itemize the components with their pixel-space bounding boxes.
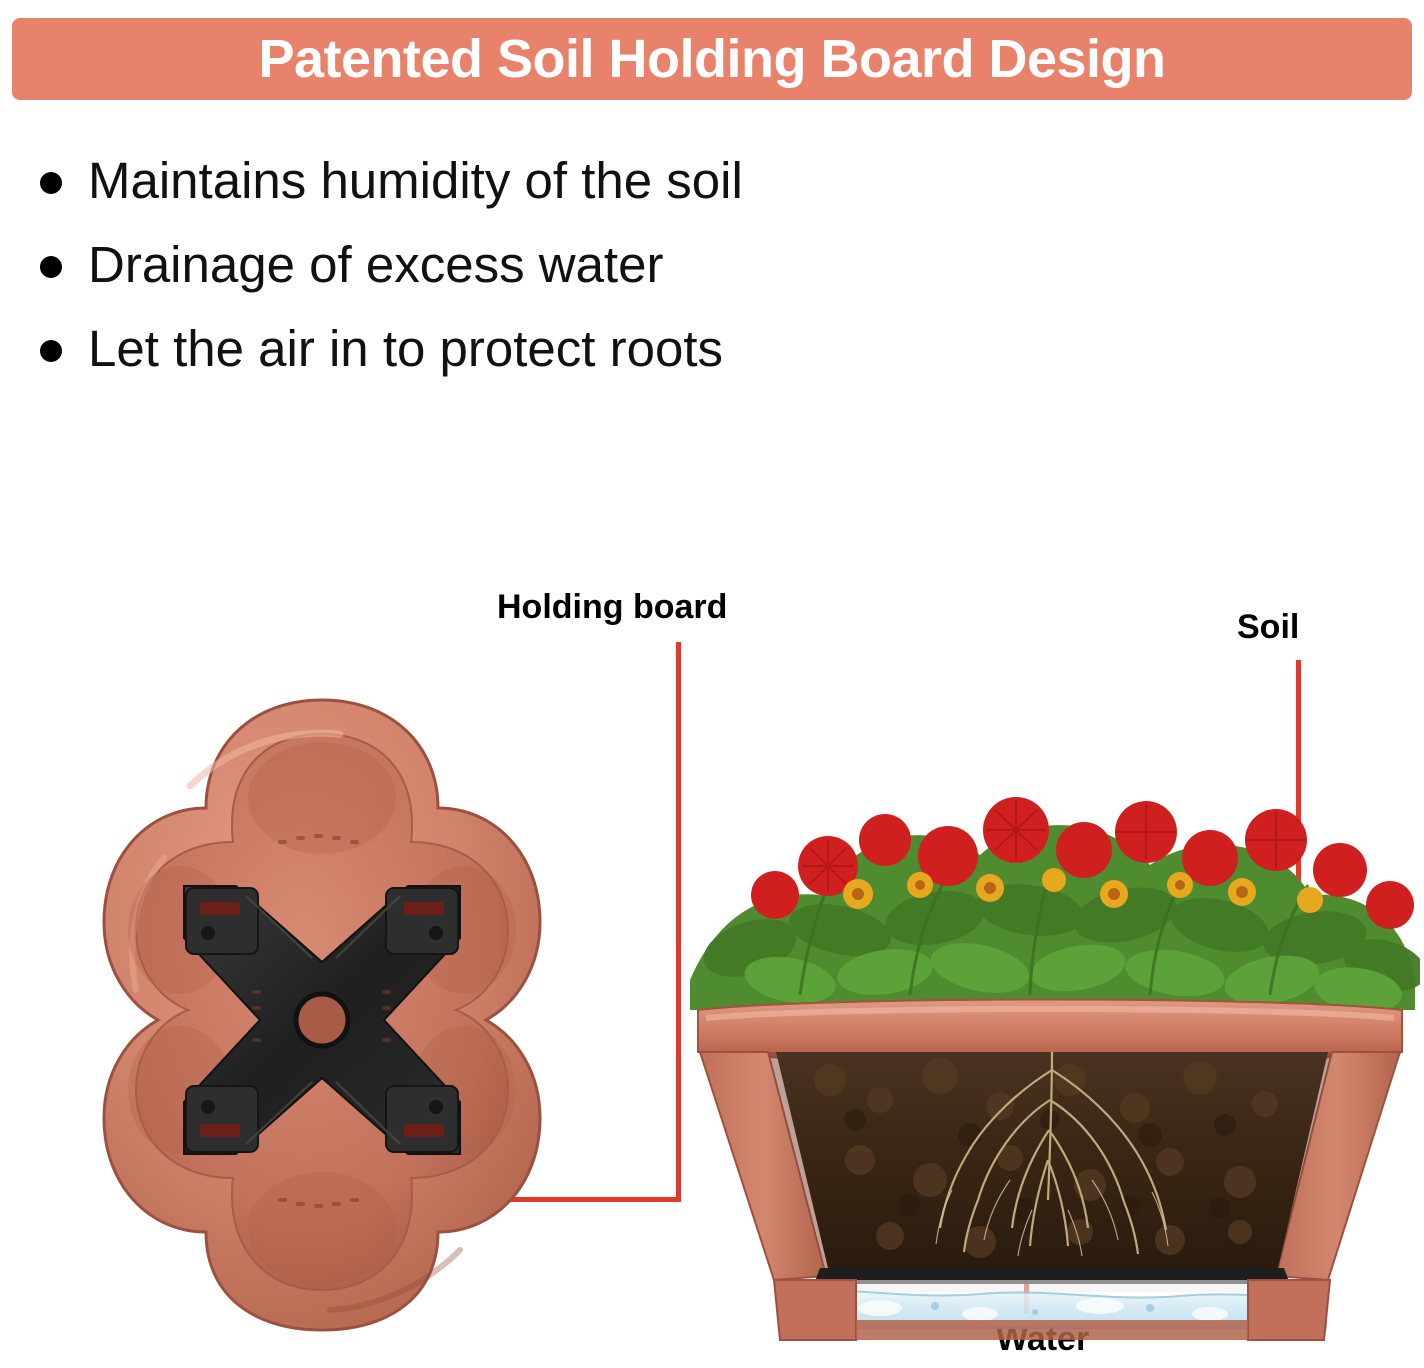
page-title: Patented Soil Holding Board Design	[258, 32, 1165, 86]
page-header-banner: Patented Soil Holding Board Design	[12, 18, 1412, 100]
bullet-dot-icon	[40, 256, 62, 278]
list-item: Maintains humidity of the soil	[40, 150, 1140, 212]
bullet-text: Maintains humidity of the soil	[88, 150, 743, 212]
feature-bullet-list: Maintains humidity of the soil Drainage …	[40, 150, 1140, 403]
list-item: Drainage of excess water	[40, 234, 1140, 296]
product-diagram: Holding board Soil Water	[0, 560, 1424, 1368]
planter-cross-section-image	[680, 680, 1420, 1350]
bullet-text: Drainage of excess water	[88, 234, 663, 296]
bullet-text: Let the air in to protect roots	[88, 318, 723, 380]
label-soil: Soil	[1237, 608, 1299, 647]
soil-cross-section	[776, 1052, 1328, 1268]
bullet-dot-icon	[40, 340, 62, 362]
plant-foliage	[690, 825, 1420, 1018]
list-item: Let the air in to protect roots	[40, 318, 1140, 380]
holding-board-edge	[776, 1268, 1328, 1292]
planter-top-view-image	[40, 690, 605, 1338]
bullet-dot-icon	[40, 172, 62, 194]
label-holding-board: Holding board	[497, 588, 727, 627]
